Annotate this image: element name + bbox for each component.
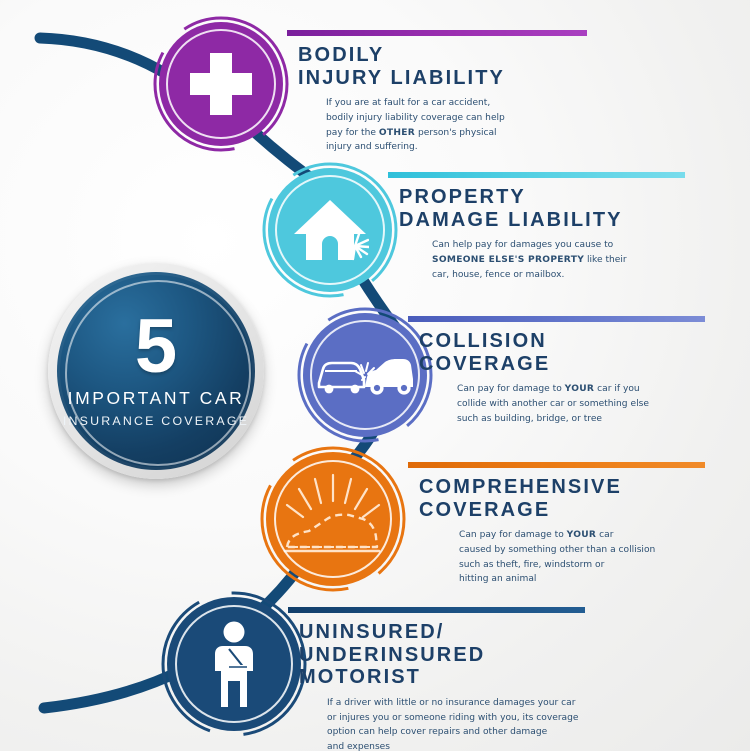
medical-cross-icon bbox=[190, 53, 252, 115]
hub-badge: 5 IMPORTANT CAR INSURANCE COVERAGE bbox=[48, 263, 264, 479]
section-body-5: If a driver with little or no insurance … bbox=[299, 696, 585, 751]
node-disc-4 bbox=[266, 452, 400, 586]
section-bar-4 bbox=[408, 462, 705, 468]
hub-text: 5 IMPORTANT CAR INSURANCE COVERAGE bbox=[48, 263, 264, 479]
section-bar-3 bbox=[408, 316, 705, 322]
node-disc-2 bbox=[268, 168, 392, 292]
section-body-3-pre: Can pay for damage to bbox=[457, 384, 565, 394]
section-bodily-injury-liability: BODILY INJURY LIABILITY If you are at fa… bbox=[287, 30, 587, 155]
section-bar-2 bbox=[388, 172, 685, 178]
section-body-1: If you are at fault for a car accident, … bbox=[298, 96, 587, 155]
section-bar-5 bbox=[288, 607, 585, 613]
node-comprehensive-coverage[interactable] bbox=[266, 452, 400, 586]
section-collision-coverage: COLLISION COVERAGE Can pay for damage to… bbox=[408, 316, 705, 426]
section-body-2-pre: Can help pay for damages you cause to bbox=[432, 240, 613, 250]
section-body-2: Can help pay for damages you cause to SO… bbox=[399, 238, 685, 282]
section-body-4-pre: Can pay for damage to bbox=[459, 530, 567, 540]
hub-line-2: INSURANCE COVERAGE bbox=[63, 414, 249, 428]
section-body-4-strong: YOUR bbox=[567, 530, 597, 540]
node-property-damage-liability[interactable] bbox=[268, 168, 392, 292]
hub-number: 5 bbox=[135, 314, 177, 381]
section-body-2-strong: SOMEONE ELSE'S PROPERTY bbox=[432, 255, 584, 265]
section-uninsured-underinsured-motorist: UNINSURED/ UNDERINSURED MOTORIST If a dr… bbox=[288, 607, 585, 751]
car-crash-icon bbox=[315, 349, 415, 401]
section-body-5-pre: If a driver with little or no insurance … bbox=[327, 698, 579, 751]
section-title-5: UNINSURED/ UNDERINSURED MOTORIST bbox=[299, 621, 585, 689]
hub-line-1: IMPORTANT CAR bbox=[68, 388, 245, 409]
infographic-canvas: 5 IMPORTANT CAR INSURANCE COVERAGE BODIL… bbox=[0, 0, 750, 751]
section-title-4: COMPREHENSIVE COVERAGE bbox=[419, 476, 705, 521]
node-disc-5 bbox=[167, 597, 301, 731]
section-title-3: COLLISION COVERAGE bbox=[419, 330, 705, 375]
hail-car-icon bbox=[277, 467, 389, 571]
injured-person-icon bbox=[205, 621, 263, 707]
section-body-3-strong: YOUR bbox=[565, 384, 595, 394]
section-title-1: BODILY INJURY LIABILITY bbox=[298, 44, 587, 89]
section-body-3: Can pay for damage to YOUR car if you co… bbox=[419, 382, 705, 426]
cracked-house-icon bbox=[291, 194, 369, 266]
node-disc-1 bbox=[159, 22, 283, 146]
section-body-1-strong: OTHER bbox=[379, 128, 415, 138]
section-bar-1 bbox=[287, 30, 587, 36]
connector-bottom-tail bbox=[44, 670, 182, 708]
node-uninsured-underinsured-motorist[interactable] bbox=[167, 597, 301, 731]
section-property-damage-liability: PROPERTY DAMAGE LIABILITY Can help pay f… bbox=[388, 172, 685, 282]
section-comprehensive-coverage: COMPREHENSIVE COVERAGE Can pay for damag… bbox=[408, 462, 705, 587]
node-bodily-injury-liability[interactable] bbox=[159, 22, 283, 146]
section-body-4: Can pay for damage to YOUR car caused by… bbox=[419, 528, 705, 587]
section-title-2: PROPERTY DAMAGE LIABILITY bbox=[399, 186, 685, 231]
